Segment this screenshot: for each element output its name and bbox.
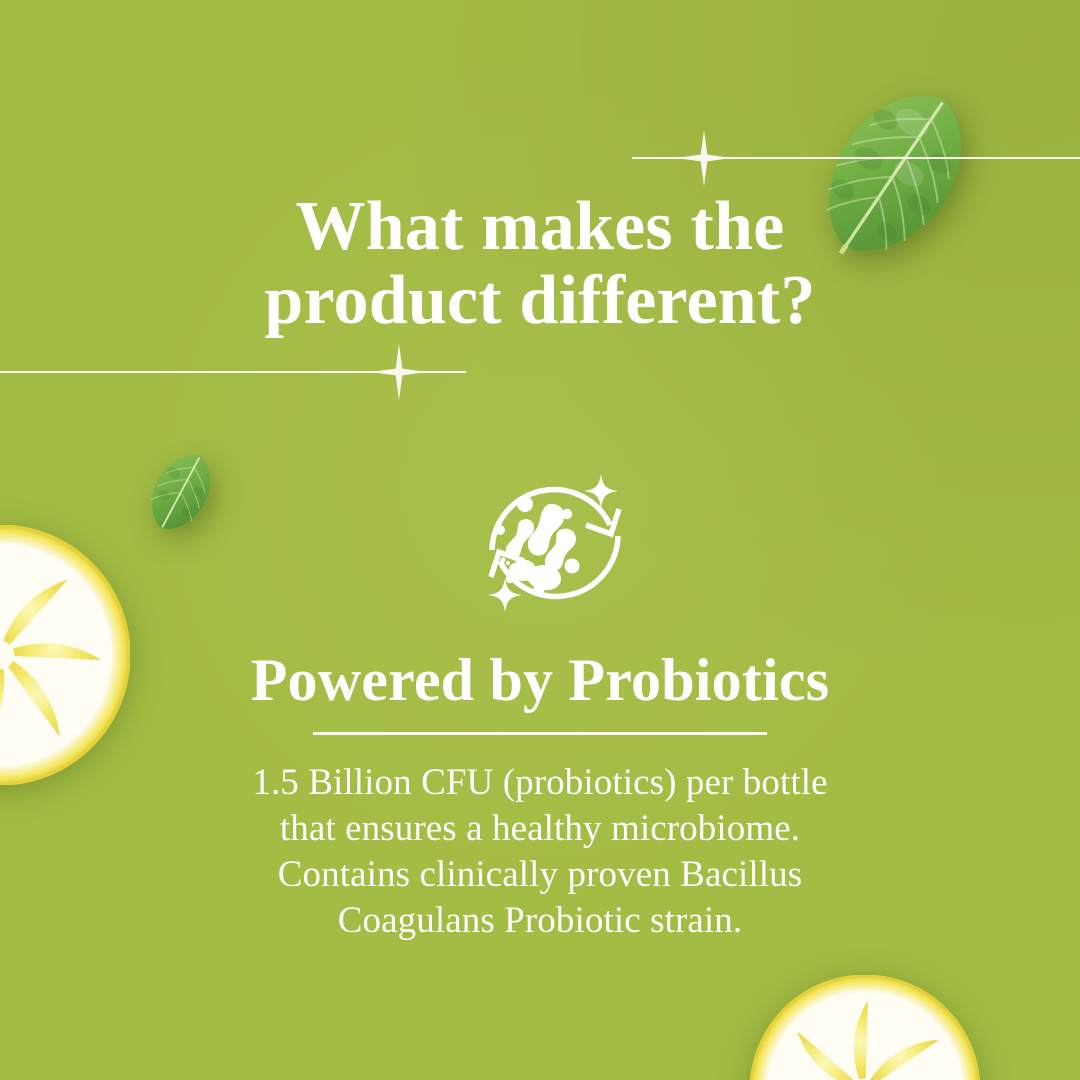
mint-leaf-graphic: [135, 447, 227, 537]
probiotics-cycle-graphic: [470, 462, 640, 624]
promo-poster: What makes the product different?: [0, 0, 1080, 1080]
four-point-sparkle-icon: [371, 344, 427, 400]
page-title: What makes the product different?: [0, 192, 1080, 336]
probiotics-cycle-icon: [470, 462, 640, 624]
description-line-4: Coagulans Probiotic strain.: [190, 898, 890, 944]
headline-line-1: What makes the: [0, 192, 1080, 262]
mint-leaf-small: [135, 447, 227, 537]
lemon-slice-graphic: [750, 975, 980, 1080]
feature-divider: [313, 732, 767, 735]
description-line-1: 1.5 Billion CFU (probiotics) per bottle: [190, 760, 890, 806]
lemon-slice-bottom-right: [750, 975, 980, 1080]
feature-description: 1.5 Billion CFU (probiotics) per bottle …: [190, 760, 890, 944]
headline-line-2: product different?: [0, 266, 1080, 336]
four-point-sparkle-icon: [676, 130, 732, 186]
description-line-2: that ensures a healthy microbiome.: [190, 806, 890, 852]
feature-title: Powered by Probiotics: [0, 650, 1080, 710]
description-line-3: Contains clinically proven Bacillus: [190, 852, 890, 898]
